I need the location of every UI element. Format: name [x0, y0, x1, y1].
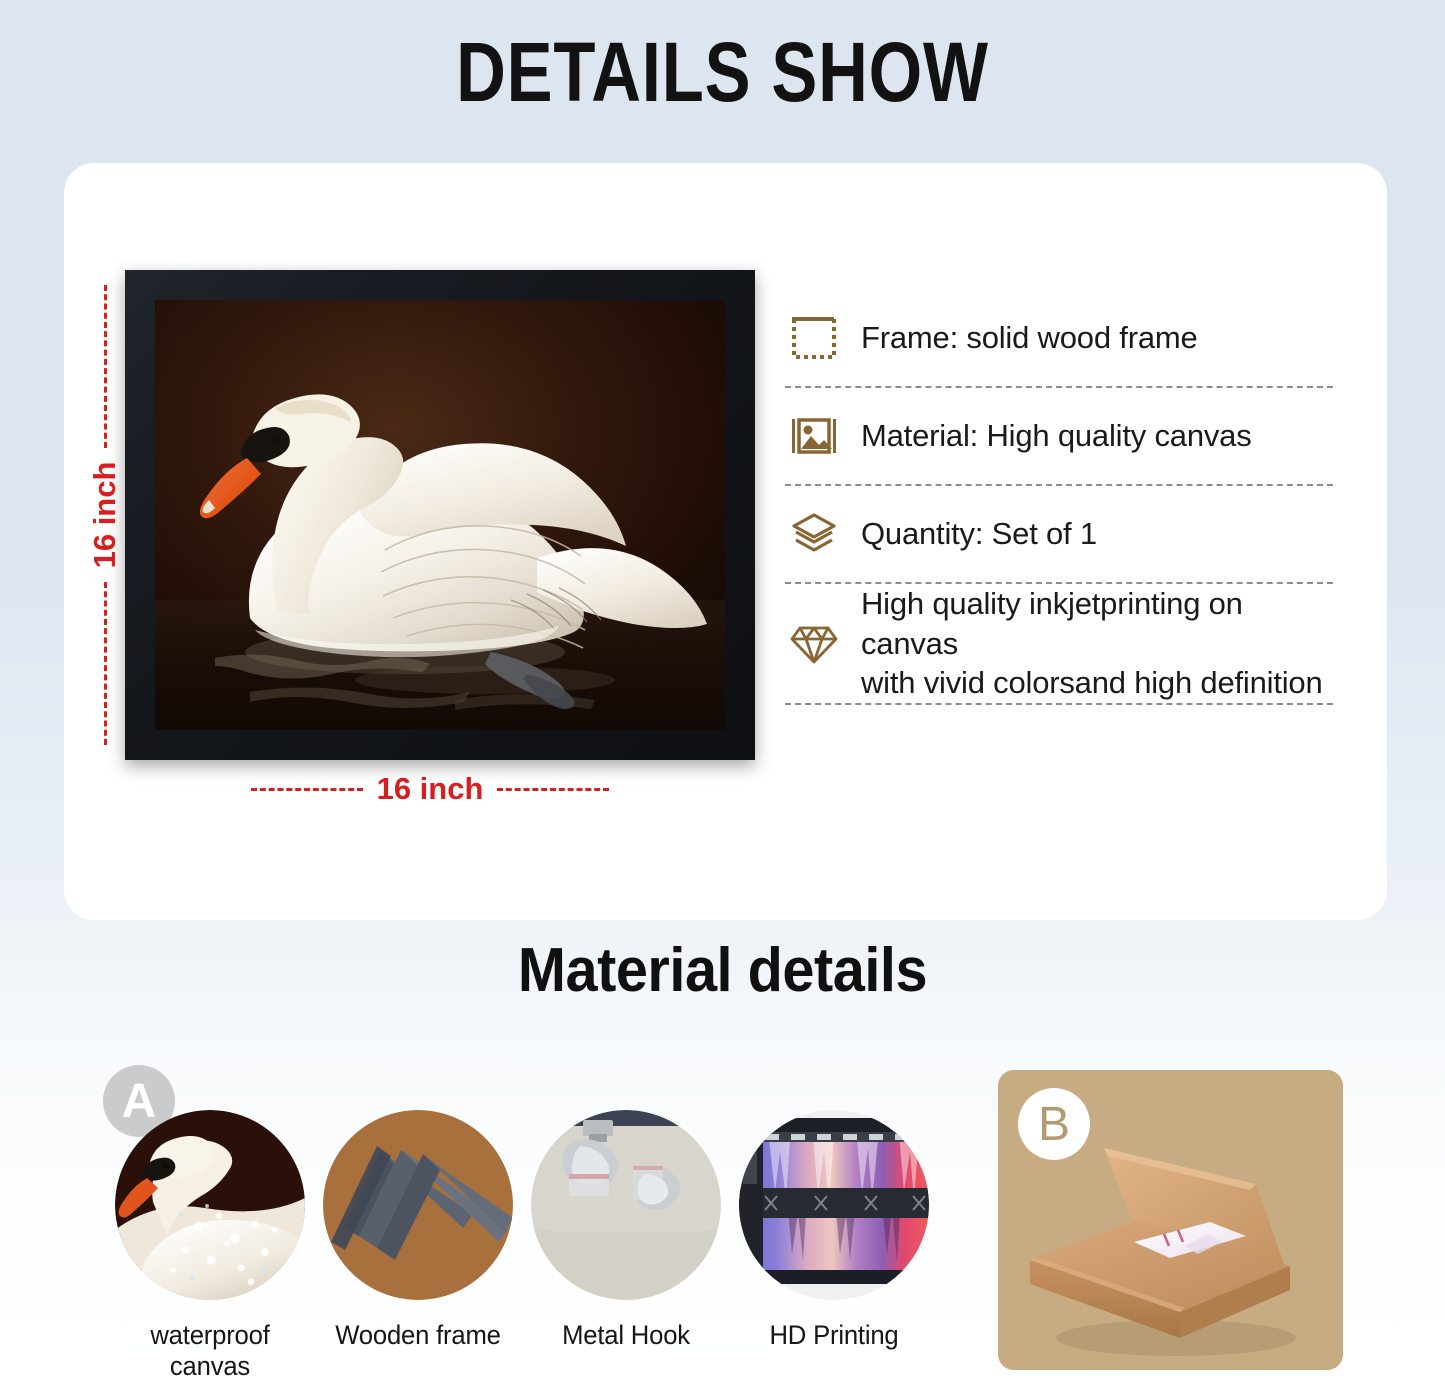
feature-label: Quantity: Set of 1 — [861, 514, 1097, 554]
thumbnail-label: waterproof canvas — [120, 1320, 301, 1382]
thumbnail-image — [323, 1110, 513, 1300]
swan-painting — [155, 300, 725, 730]
feature-divider — [785, 703, 1333, 705]
feature-item-quantity: Quantity: Set of 1 — [785, 486, 1333, 582]
feature-item-printing: High quality inkjetprinting on canvas wi… — [785, 584, 1333, 703]
section-heading: Material details — [51, 935, 1395, 1006]
feature-label: Frame: solid wood frame — [861, 318, 1198, 358]
page-title: DETAILS SHOW — [130, 24, 1315, 121]
feature-label-line2: with vivid colorsand high definition — [861, 665, 1323, 700]
panel-a: A — [95, 1065, 925, 1375]
dimension-height-label: 16 inch — [87, 462, 123, 569]
feature-item-material: Material: High quality canvas — [785, 388, 1333, 484]
dimension-height: 16 inch — [85, 285, 125, 745]
feature-label: High quality inkjetprinting on canvas wi… — [861, 584, 1333, 703]
thumbnail-wooden-frame: Wooden frame — [323, 1110, 513, 1351]
thumbnail-label: Metal Hook — [536, 1320, 717, 1351]
dashed-frame-icon — [785, 309, 843, 367]
thumbnail-waterproof-canvas: waterproof canvas — [115, 1110, 305, 1382]
badge-b: B — [1018, 1088, 1090, 1160]
feature-label: Material: High quality canvas — [861, 416, 1252, 456]
feature-list: Frame: solid wood frame Material: High q… — [785, 290, 1333, 705]
thumbnail-label: HD Printing — [744, 1320, 925, 1351]
feature-label-line1: High quality inkjetprinting on canvas — [861, 586, 1243, 661]
diamond-icon — [785, 615, 843, 673]
thumbnail-image — [115, 1110, 305, 1300]
frame-inner-bevel — [155, 300, 725, 730]
thumbnail-image — [531, 1110, 721, 1300]
framed-artwork — [125, 270, 755, 760]
picture-icon — [785, 407, 843, 465]
dimension-width-label: 16 inch — [377, 771, 484, 807]
dash-line-right — [104, 285, 107, 448]
thumbnail-label: Wooden frame — [328, 1320, 509, 1351]
dash-line-right — [497, 788, 609, 791]
feature-item-frame: Frame: solid wood frame — [785, 290, 1333, 386]
dash-line-left — [251, 788, 363, 791]
dimension-width: 16 inch — [160, 768, 700, 810]
dash-line-left — [104, 582, 107, 745]
panel-b: B — [998, 1070, 1343, 1370]
thumbnail-hd-printing: HD Printing — [739, 1110, 929, 1351]
layers-icon — [785, 505, 843, 563]
thumbnail-image — [739, 1110, 929, 1300]
thumbnail-metal-hook: Metal Hook — [531, 1110, 721, 1351]
